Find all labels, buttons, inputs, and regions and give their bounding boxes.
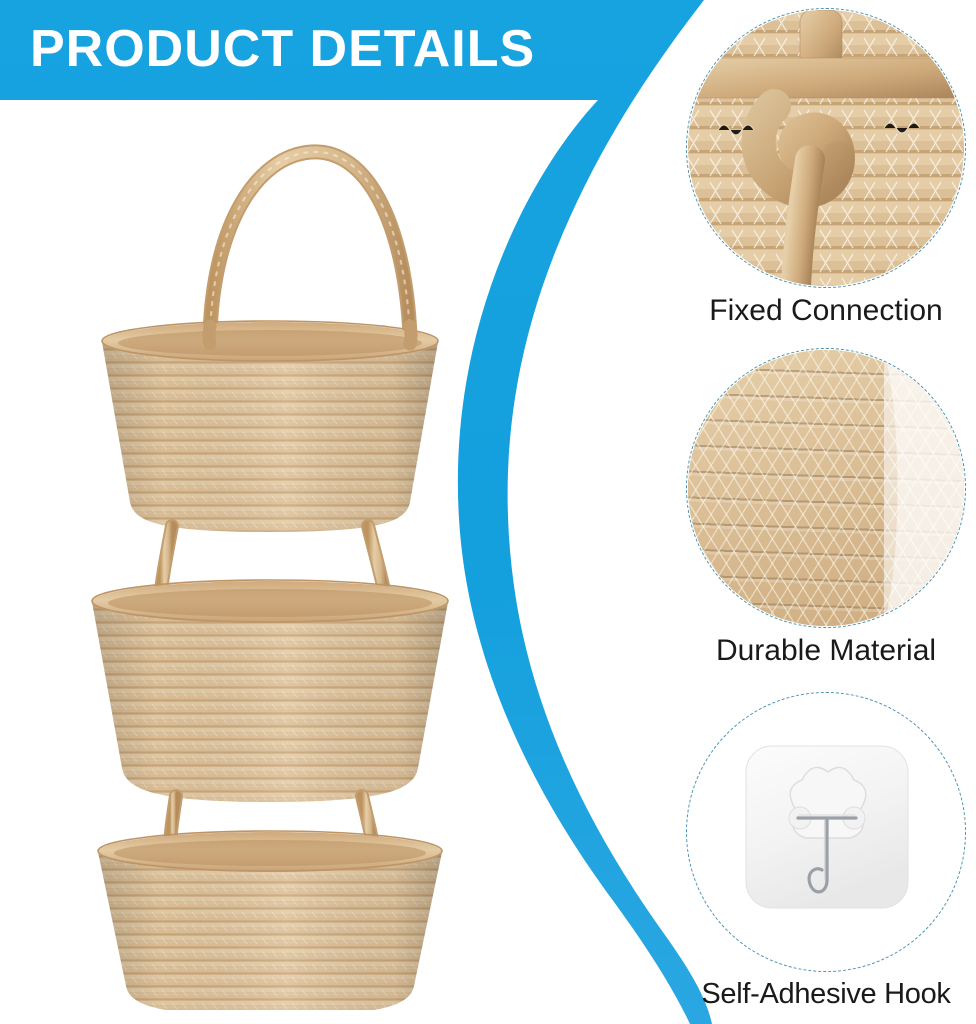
basket-handle [210, 152, 410, 336]
callout-self-adhesive-hook: Self-Adhesive Hook Transparent square se… [676, 692, 976, 1011]
callout-label-durable-material: Durable Material [676, 634, 976, 669]
dashed-circle-border [686, 692, 966, 972]
callout-alt-self-adhesive-hook: Transparent square self-adhesive wall ho… [676, 1011, 677, 1012]
callout-fixed-connection: Fixed Connection Close-up of a knotted r… [676, 8, 976, 329]
main-product-image: Three tan cotton rope baskets hanging ve… [80, 130, 470, 1010]
dashed-circle-border [686, 348, 966, 628]
callout-label-self-adhesive-hook: Self-Adhesive Hook [676, 978, 976, 1011]
callout-alt-fixed-connection: Close-up of a knotted rope tie joining t… [676, 329, 677, 330]
callout-image-fixed-connection [686, 8, 966, 288]
callout-durable-material: Durable Material Macro close-up of tight… [676, 348, 976, 669]
basket-tier-bottom [98, 831, 442, 1010]
callout-label-fixed-connection: Fixed Connection [676, 294, 976, 329]
callout-image-self-adhesive-hook [686, 692, 966, 972]
callout-column: Fixed Connection Close-up of a knotted r… [676, 0, 976, 1024]
page-title: PRODUCT DETAILS [30, 22, 535, 77]
basket-tier-top [102, 321, 438, 532]
callout-image-durable-material [686, 348, 966, 628]
dashed-circle-border [686, 8, 966, 288]
callout-alt-durable-material: Macro close-up of tightly coiled cotton … [676, 669, 677, 670]
product-details-infographic: PRODUCT DETAILS Three tan cotton rope ba… [0, 0, 976, 1024]
basket-tier-middle [92, 580, 448, 802]
